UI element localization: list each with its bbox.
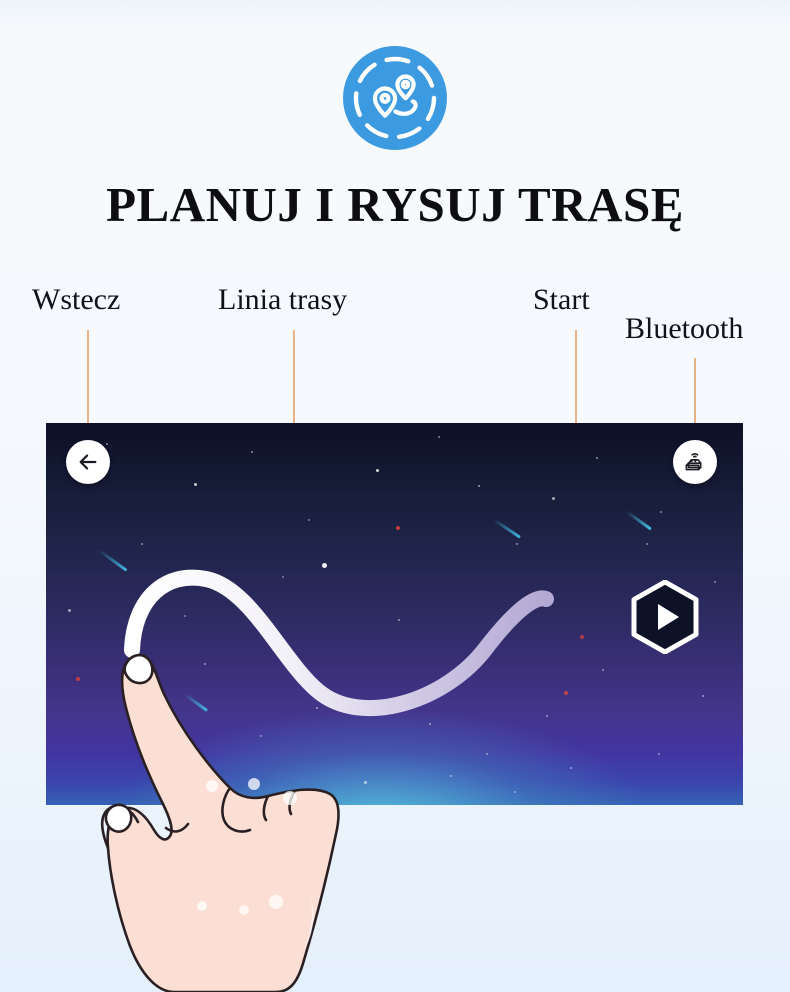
callout-label-start: Start bbox=[533, 283, 590, 317]
callout-label-back: Wstecz bbox=[32, 283, 120, 317]
back-button[interactable] bbox=[66, 440, 110, 484]
pointing-hand-illustration bbox=[78, 620, 408, 992]
arrow-left-icon bbox=[77, 451, 99, 473]
callout-label-bluetooth: Bluetooth bbox=[625, 312, 743, 346]
start-button[interactable] bbox=[631, 580, 699, 654]
bluetooth-button[interactable] bbox=[673, 440, 717, 484]
route-planner-logo bbox=[343, 46, 447, 150]
logo-container bbox=[0, 46, 790, 150]
page-title: PLANUJ I RYSUJ TRASĘ bbox=[0, 176, 790, 234]
play-icon bbox=[631, 580, 699, 654]
callout-label-route: Linia trasy bbox=[218, 283, 347, 317]
rc-car-signal-icon bbox=[682, 449, 708, 475]
